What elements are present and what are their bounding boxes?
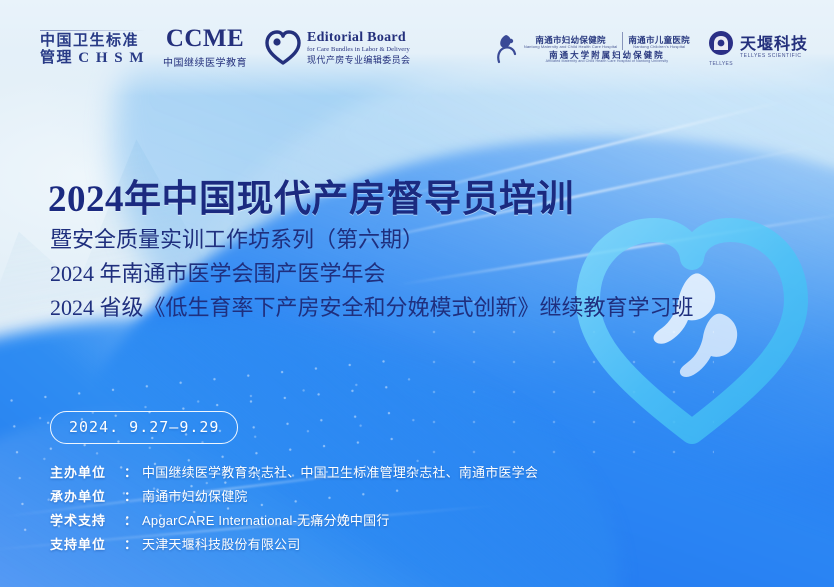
credit-row: 学术支持 ： ApgarCARE International-无痛分娩中国行: [50, 510, 538, 529]
ccme-logo: CCME 中国继续医学教育: [163, 26, 247, 70]
poster-line-4: 2024 省级《低生育率下产房安全和分娩模式创新》继续教育学习班: [50, 290, 694, 322]
credit-row: 承办单位 ： 南通市妇幼保健院: [50, 486, 538, 505]
credit-value: 天津天堰科技股份有限公司: [142, 534, 300, 553]
chsm-logo: 中国卫生标准 管理 C H S M: [40, 30, 145, 67]
logos-left-group: 中国卫生标准 管理 C H S M CCME 中国继续医学教育 Editoria…: [40, 26, 410, 70]
credit-label: 学术支持: [50, 510, 124, 529]
editorial-board-title: Editorial Board: [307, 30, 410, 46]
page-title: 2024年中国现代产房督导员培训: [48, 168, 574, 222]
logo-band: 中国卫生标准 管理 C H S M CCME 中国继续医学教育 Editoria…: [0, 0, 834, 96]
credit-row: 主办单位 ： 中国继续医学教育杂志社、中国卫生标准管理杂志社、南通市医学会: [50, 462, 538, 481]
credit-label: 主办单位: [50, 462, 124, 481]
credit-value: ApgarCARE International-无痛分娩中国行: [142, 510, 390, 529]
editorial-board-subtitle-cn: 现代产房专业编辑委员会: [307, 55, 410, 65]
chsm-line2: 管理 C H S M: [40, 50, 145, 67]
tellyes-mark-icon: [708, 30, 734, 56]
poster-line-3: 2024 年南通市医学会围产医学年会: [50, 256, 386, 288]
hospital-en-right: Nantong Children's Hospital: [633, 45, 685, 49]
credit-colon: ：: [124, 486, 137, 505]
hospital-en-bottom: Affiliated Maternity and Child Health Ca…: [524, 60, 690, 64]
tellyes-cn: 天堰科技: [740, 36, 808, 54]
tellyes-logo: TELLYES 天堰科技 TELLYES SCIENTIFIC: [708, 30, 808, 67]
editorial-board-logo: Editorial Board for Care Bundles in Labo…: [265, 29, 410, 67]
tellyes-mark-label: TELLYES: [708, 61, 734, 67]
poster-subtitle: 暨安全质量实训工作坊系列（第六期）: [50, 222, 424, 254]
editorial-board-subtitle-en: for Care Bundles in Labor & Delivery: [307, 46, 410, 53]
credit-label: 承办单位: [50, 486, 124, 505]
date-badge: 2024. 9.27—9.29: [50, 411, 238, 444]
ccme-acronym: CCME: [166, 26, 244, 52]
tellyes-en: TELLYES SCIENTIFIC: [740, 54, 808, 60]
credit-row: 支持单位 ： 天津天堰科技股份有限公司: [50, 534, 538, 553]
credit-value: 南通市妇幼保健院: [142, 486, 248, 505]
conference-poster: 中国卫生标准 管理 C H S M CCME 中国继续医学教育 Editoria…: [0, 0, 834, 587]
credit-colon: ：: [124, 510, 137, 529]
chsm-rule: [40, 30, 145, 31]
credit-colon: ：: [124, 462, 137, 481]
chsm-line1: 中国卫生标准: [40, 33, 145, 50]
hospital-divider: [622, 32, 623, 50]
hospital-mother-child-icon: [493, 32, 519, 64]
credits-block: 主办单位 ： 中国继续医学教育杂志社、中国卫生标准管理杂志社、南通市医学会 承办…: [50, 462, 538, 558]
hospital-en-left: Nantong Maternity and Child Health Care …: [524, 45, 618, 49]
editorial-board-heart-icon: [265, 29, 301, 67]
credit-colon: ：: [124, 534, 137, 553]
nantong-hospital-logo: 南通市妇幼保健院 Nantong Maternity and Child Hea…: [493, 32, 690, 64]
credit-label: 支持单位: [50, 534, 124, 553]
credit-value: 中国继续医学教育杂志社、中国卫生标准管理杂志社、南通市医学会: [142, 462, 538, 481]
ccme-subtitle: 中国继续医学教育: [163, 59, 247, 70]
logos-right-group: 南通市妇幼保健院 Nantong Maternity and Child Hea…: [493, 30, 808, 67]
